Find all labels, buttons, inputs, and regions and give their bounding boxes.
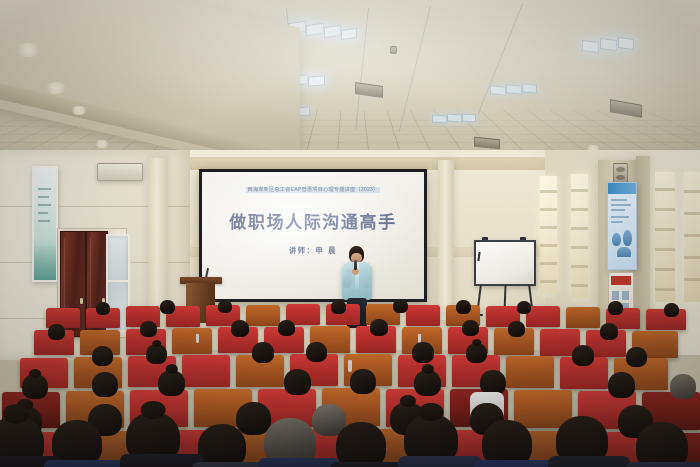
seat xyxy=(566,307,600,328)
audience-head xyxy=(608,372,635,398)
audience-head xyxy=(236,402,271,435)
wall-light-slat xyxy=(540,176,557,294)
wall-poster-left xyxy=(32,166,58,282)
audience-head xyxy=(160,300,175,314)
seat xyxy=(182,355,230,387)
audience-torso xyxy=(44,460,124,467)
audience-head xyxy=(462,320,479,336)
audience-head xyxy=(306,342,327,362)
audience-head xyxy=(626,347,647,367)
slide-header-text: 西海岸新区总工会EAP普惠项目心理专题讲座（2023） xyxy=(246,187,379,193)
wall-light-slat xyxy=(571,174,588,298)
audience-torso xyxy=(474,460,554,467)
audience-torso xyxy=(626,462,700,467)
audience-torso xyxy=(398,456,482,467)
audience-torso xyxy=(258,458,340,467)
audience-head xyxy=(350,369,376,394)
audience-head xyxy=(96,302,110,315)
audience-head xyxy=(92,372,118,397)
audience-head xyxy=(664,303,679,317)
audience-torso xyxy=(192,462,268,467)
handheld-microphone xyxy=(354,260,357,270)
lecture-hall-photo: 西海岸新区总工会EAP普惠项目心理专题讲座（2023） 做职场人际沟通高手 讲师… xyxy=(0,0,700,467)
audience-head xyxy=(336,422,386,467)
audience-head xyxy=(252,342,274,363)
audience-head xyxy=(414,370,441,396)
seat xyxy=(246,305,280,326)
seat xyxy=(406,305,440,326)
audience-head xyxy=(198,424,246,467)
seat xyxy=(172,328,212,354)
audience-head xyxy=(22,374,48,399)
audience-head xyxy=(48,324,65,340)
column-poster-right xyxy=(607,182,637,270)
audience-head xyxy=(146,344,167,364)
audience-head xyxy=(636,422,688,467)
audience-head xyxy=(393,300,408,313)
audience-head xyxy=(331,300,346,314)
wall-light-slat xyxy=(684,172,700,302)
audience-head xyxy=(218,300,232,313)
water-bottle xyxy=(196,334,199,343)
water-bottle xyxy=(348,360,352,372)
projection-screen: 西海岸新区总工会EAP普惠项目心理专题讲座（2023） 做职场人际沟通高手 讲师… xyxy=(202,172,424,299)
wall-air-conditioner xyxy=(97,163,143,181)
audience-torso xyxy=(330,462,408,467)
wall-speaker xyxy=(613,163,628,184)
audience-head xyxy=(140,321,157,337)
audience-head xyxy=(370,319,388,336)
audience-head xyxy=(92,346,113,366)
audience-head xyxy=(466,343,487,363)
slide-header: 西海岸新区总工会EAP普惠项目心理专题讲座（2023） xyxy=(202,186,424,193)
audience-head xyxy=(158,370,185,396)
audience-head xyxy=(608,301,623,315)
audience-head xyxy=(517,301,531,314)
audience-seating xyxy=(0,300,700,467)
audience-head xyxy=(600,323,618,340)
audience-head xyxy=(412,342,434,363)
marker-pen-icon xyxy=(477,252,480,261)
projection-screen-frame: 西海岸新区总工会EAP普惠项目心理专题讲座（2023） 做职场人际沟通高手 讲师… xyxy=(199,169,427,302)
audience-head xyxy=(670,374,696,399)
wall-column xyxy=(438,160,454,320)
audience-head xyxy=(284,369,311,395)
audience-head xyxy=(231,320,249,337)
slide-speaker-line: 讲师：申 晨 xyxy=(202,246,424,256)
slide-title: 做职场人际沟通高手 xyxy=(202,208,424,233)
audience-head xyxy=(456,300,471,314)
audience-torso xyxy=(548,456,630,467)
seat xyxy=(506,356,554,388)
audience-head xyxy=(508,321,525,337)
audience-head xyxy=(278,320,295,336)
wall-light-slat xyxy=(655,172,675,302)
audience-torso xyxy=(120,454,204,467)
seat xyxy=(526,306,560,327)
audience-head xyxy=(572,345,594,366)
whiteboard xyxy=(474,240,536,286)
